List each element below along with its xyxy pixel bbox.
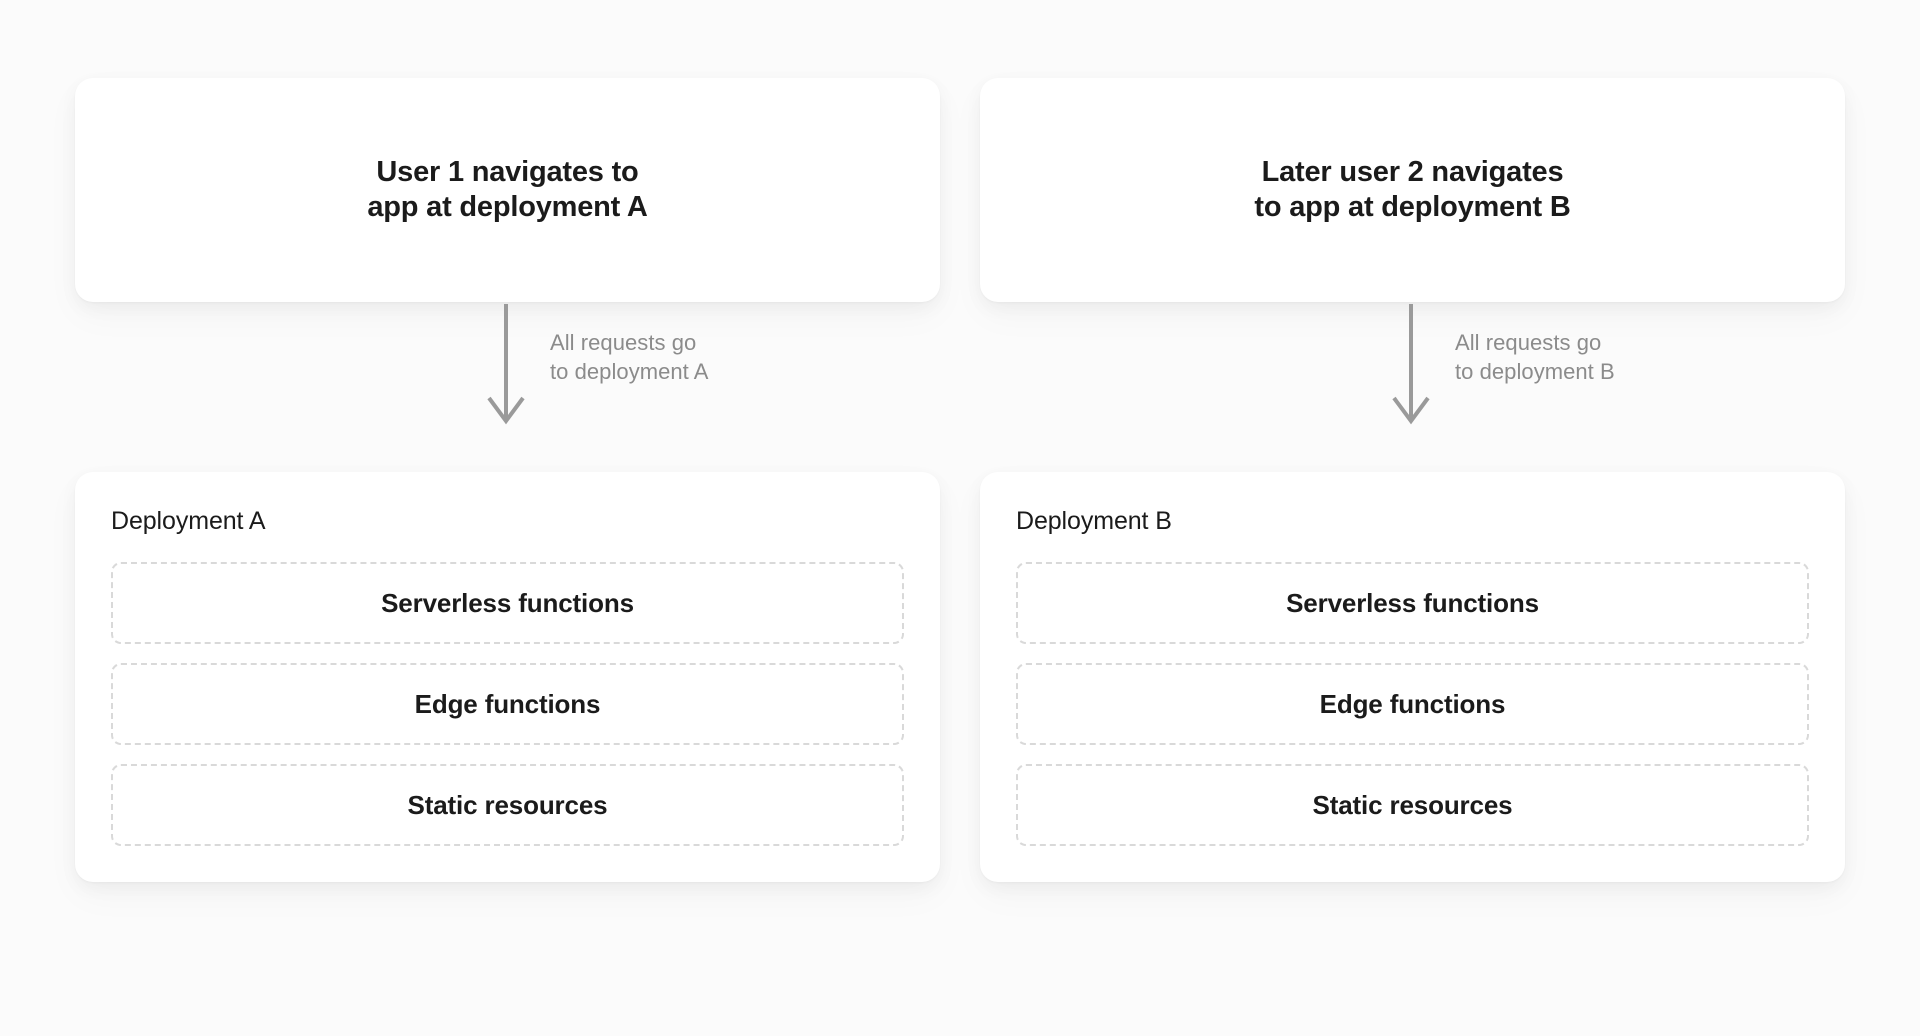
deployment-column-a: User 1 navigates to app at deployment A … xyxy=(75,78,940,1036)
resource-list-a: Serverless functions Edge functions Stat… xyxy=(111,562,904,846)
resource-label: Edge functions xyxy=(415,689,601,720)
resource-label: Static resources xyxy=(408,790,608,821)
deployment-card-a: Deployment A Serverless functions Edge f… xyxy=(75,472,940,882)
user-card-b: Later user 2 navigates to app at deploym… xyxy=(980,78,1845,302)
arrow-region-b: All requests go to deployment B xyxy=(980,302,1845,472)
resource-list-b: Serverless functions Edge functions Stat… xyxy=(1016,562,1809,846)
resource-label: Static resources xyxy=(1313,790,1513,821)
resource-box-edge-functions-a: Edge functions xyxy=(111,663,904,745)
deployment-comparison-diagram: User 1 navigates to app at deployment A … xyxy=(0,0,1920,1036)
deployment-title-a: Deployment A xyxy=(111,506,904,536)
arrow-down-icon xyxy=(478,302,534,426)
user-card-a: User 1 navigates to app at deployment A xyxy=(75,78,940,302)
deployment-column-b: Later user 2 navigates to app at deploym… xyxy=(980,78,1845,1036)
deployment-card-b: Deployment B Serverless functions Edge f… xyxy=(980,472,1845,882)
user-card-title-a: User 1 navigates to app at deployment A xyxy=(367,155,647,226)
resource-label: Edge functions xyxy=(1320,689,1506,720)
arrow-region-a: All requests go to deployment A xyxy=(75,302,940,472)
deployment-title-b: Deployment B xyxy=(1016,506,1809,536)
resource-box-serverless-functions-a: Serverless functions xyxy=(111,562,904,644)
arrow-label-b: All requests go to deployment B xyxy=(1455,328,1615,387)
resource-box-static-resources-a: Static resources xyxy=(111,764,904,846)
resource-label: Serverless functions xyxy=(381,588,634,619)
resource-box-edge-functions-b: Edge functions xyxy=(1016,663,1809,745)
arrow-down-icon xyxy=(1383,302,1439,426)
resource-box-serverless-functions-b: Serverless functions xyxy=(1016,562,1809,644)
arrow-label-a: All requests go to deployment A xyxy=(550,328,709,387)
user-card-title-b: Later user 2 navigates to app at deploym… xyxy=(1254,155,1570,226)
resource-box-static-resources-b: Static resources xyxy=(1016,764,1809,846)
resource-label: Serverless functions xyxy=(1286,588,1539,619)
